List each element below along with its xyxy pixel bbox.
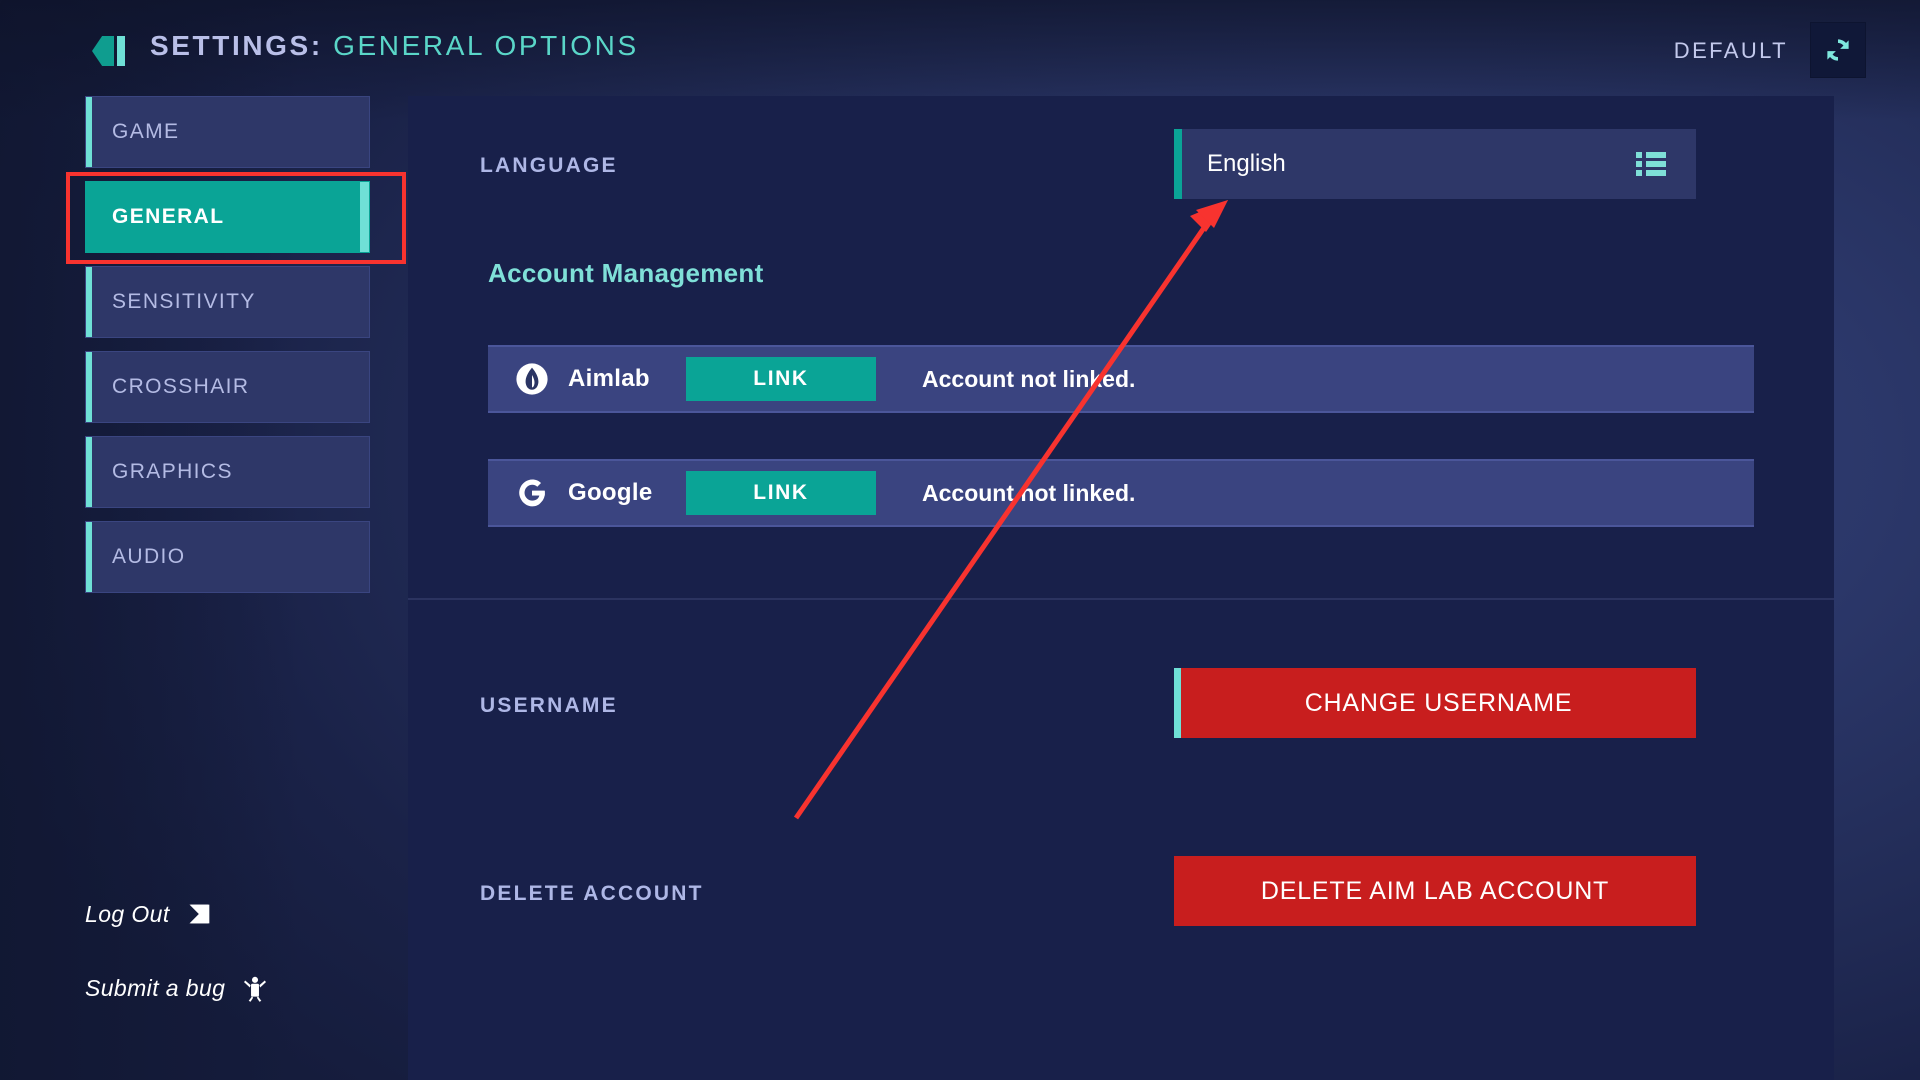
- page-title-section: GENERAL OPTIONS: [333, 30, 639, 61]
- nav-accent-bar: [86, 267, 92, 337]
- delete-account-button-label: DELETE AIM LAB ACCOUNT: [1174, 877, 1696, 906]
- nav-accent-bar: [86, 97, 92, 167]
- sidebar-item-label: GRAPHICS: [112, 460, 233, 484]
- page-title-prefix: SETTINGS:: [150, 30, 323, 61]
- sidebar-footer: Log Out Submit a bug: [85, 900, 385, 1048]
- sidebar-item-label: CROSSHAIR: [112, 375, 249, 399]
- language-label: LANGUAGE: [480, 154, 618, 178]
- back-arrow-triangle: [92, 36, 114, 66]
- sidebar-item-graphics[interactable]: GRAPHICS: [85, 436, 370, 508]
- header-bar: SETTINGS: GENERAL OPTIONS DEFAULT: [0, 0, 1920, 100]
- delete-account-button[interactable]: DELETE AIM LAB ACCOUNT: [1174, 856, 1696, 926]
- sidebar-item-audio[interactable]: AUDIO: [85, 521, 370, 593]
- link-button-label: LINK: [753, 481, 808, 505]
- submit-bug-button[interactable]: Submit a bug: [85, 974, 385, 1002]
- sidebar-item-sensitivity[interactable]: SENSITIVITY: [85, 266, 370, 338]
- refresh-icon: [1821, 33, 1855, 67]
- log-out-label: Log Out: [85, 901, 170, 928]
- language-selected-value: English: [1207, 150, 1286, 178]
- language-dropdown[interactable]: English: [1174, 129, 1696, 199]
- logout-icon: [186, 900, 214, 928]
- account-status-text: Account not linked.: [922, 366, 1135, 393]
- default-label: DEFAULT: [1674, 38, 1788, 64]
- button-accent-bar: [1174, 668, 1181, 738]
- link-aimlab-button[interactable]: LINK: [686, 357, 876, 401]
- settings-panel: LANGUAGE English Account Management Aiml…: [408, 96, 1834, 1080]
- account-row-aimlab: Aimlab LINK Account not linked.: [488, 345, 1754, 413]
- account-management-heading: Account Management: [488, 258, 764, 289]
- change-username-button[interactable]: CHANGE USERNAME: [1174, 668, 1696, 738]
- change-username-label: CHANGE USERNAME: [1181, 689, 1696, 718]
- sidebar-item-label: AUDIO: [112, 545, 186, 569]
- sidebar-item-label: GENERAL: [112, 205, 224, 229]
- page-title: SETTINGS: GENERAL OPTIONS: [150, 30, 639, 62]
- google-logo-icon: [510, 477, 554, 509]
- account-provider-name: Aimlab: [568, 365, 686, 393]
- link-google-button[interactable]: LINK: [686, 471, 876, 515]
- sidebar-item-label: SENSITIVITY: [112, 290, 256, 314]
- sidebar-item-crosshair[interactable]: CROSSHAIR: [85, 351, 370, 423]
- sidebar-item-label: GAME: [112, 120, 179, 144]
- sidebar-item-game[interactable]: GAME: [85, 96, 370, 168]
- nav-accent-bar: [86, 522, 92, 592]
- reset-to-default-button[interactable]: [1810, 22, 1866, 78]
- aimlab-logo-icon: [510, 362, 554, 396]
- sidebar-item-general[interactable]: GENERAL: [85, 181, 370, 253]
- back-arrow-icon[interactable]: [92, 33, 132, 69]
- account-row-google: Google LINK Account not linked.: [488, 459, 1754, 527]
- nav-accent-bar: [86, 437, 92, 507]
- log-out-button[interactable]: Log Out: [85, 900, 385, 928]
- dropdown-accent-bar: [1174, 129, 1182, 199]
- section-divider: [408, 598, 1834, 600]
- link-button-label: LINK: [753, 367, 808, 391]
- account-provider-name: Google: [568, 479, 686, 507]
- back-arrow-bar: [117, 36, 125, 66]
- account-status-text: Account not linked.: [922, 480, 1135, 507]
- delete-account-label: DELETE ACCOUNT: [480, 882, 704, 906]
- bug-icon: [241, 974, 269, 1002]
- list-icon: [1636, 151, 1666, 177]
- nav-accent-bar: [86, 352, 92, 422]
- nav-accent-bar: [360, 182, 369, 252]
- submit-bug-label: Submit a bug: [85, 975, 225, 1002]
- username-label: USERNAME: [480, 694, 618, 718]
- settings-sidebar: GAME GENERAL SENSITIVITY CROSSHAIR GRAPH…: [85, 96, 370, 606]
